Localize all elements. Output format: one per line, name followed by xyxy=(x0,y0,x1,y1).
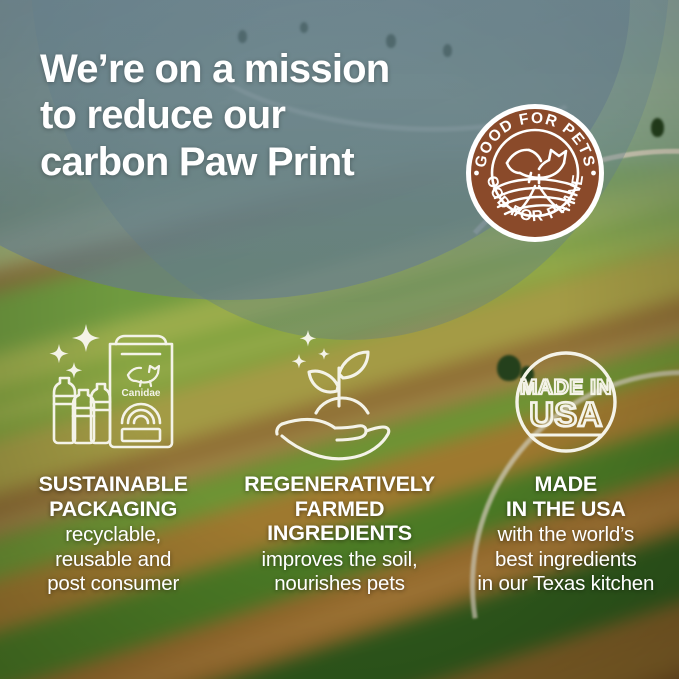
feature-3-text: MADE IN THE USA with the world’s best in… xyxy=(477,472,654,597)
feature-1-body-line-3: post consumer xyxy=(39,572,188,597)
feature-3-body-line-1: with the world’s xyxy=(477,523,654,548)
good-for-pets-good-for-planet-seal: GOOD FOR PETS GOOD FOR PLANET xyxy=(465,103,605,243)
page-title: We’re on a mission to reduce our carbon … xyxy=(40,46,470,185)
feature-2-title-line-3: INGREDIENTS xyxy=(244,521,435,546)
feature-1-body-line-1: recyclable, xyxy=(39,523,188,548)
headline-line-1: We’re on a mission xyxy=(40,46,470,92)
feature-2-text: REGENERATIVELY FARMED INGREDIENTS improv… xyxy=(244,472,435,597)
headline-line-3: carbon Paw Print xyxy=(40,139,470,185)
feature-regeneratively-farmed: REGENERATIVELY FARMED INGREDIENTS improv… xyxy=(226,318,452,597)
feature-2-body-line-2: nourishes pets xyxy=(244,572,435,597)
feature-2-title-line-1: REGENERATIVELY xyxy=(244,472,435,497)
feature-made-in-usa: MADE IN USA MADE IN THE USA with the wor… xyxy=(453,318,679,597)
feature-columns: Canidae SUSTAINABLE PACKAGING recyclable… xyxy=(0,318,679,597)
sparkle-icon xyxy=(292,330,330,368)
feature-sustainable-packaging: Canidae SUSTAINABLE PACKAGING recyclable… xyxy=(0,318,226,597)
recycled-bottles-and-pet-food-bag-icon: Canidae xyxy=(38,318,188,458)
promo-banner: We’re on a mission to reduce our carbon … xyxy=(0,0,679,679)
made-in-usa-badge-icon: MADE IN USA xyxy=(491,318,641,458)
feature-3-title-line-2: IN THE USA xyxy=(477,497,654,522)
feature-2-body-line-1: improves the soil, xyxy=(244,548,435,573)
sparkle-icon xyxy=(50,324,101,378)
feature-1-title-line-1: SUSTAINABLE xyxy=(39,472,188,497)
hand-holding-sprout-icon xyxy=(264,318,414,458)
feature-1-body-line-2: reusable and xyxy=(39,548,188,573)
bag-brand-wordmark: Canidae xyxy=(122,388,161,399)
plastic-bottles-icon xyxy=(54,378,110,443)
made-in-usa-line-2: USA xyxy=(529,396,602,434)
seal-left-dot xyxy=(474,171,479,176)
feature-3-body-line-3: in our Texas kitchen xyxy=(477,572,654,597)
canidae-logo-icon xyxy=(128,366,159,386)
feature-1-text: SUSTAINABLE PACKAGING recyclable, reusab… xyxy=(39,472,188,597)
seal-right-dot xyxy=(591,171,596,176)
feature-1-title-line-2: PACKAGING xyxy=(39,497,188,522)
feature-3-title-line-1: MADE xyxy=(477,472,654,497)
headline-line-2: to reduce our xyxy=(40,92,470,138)
feature-2-title-line-2: FARMED xyxy=(244,497,435,522)
feature-3-body-line-2: best ingredients xyxy=(477,548,654,573)
